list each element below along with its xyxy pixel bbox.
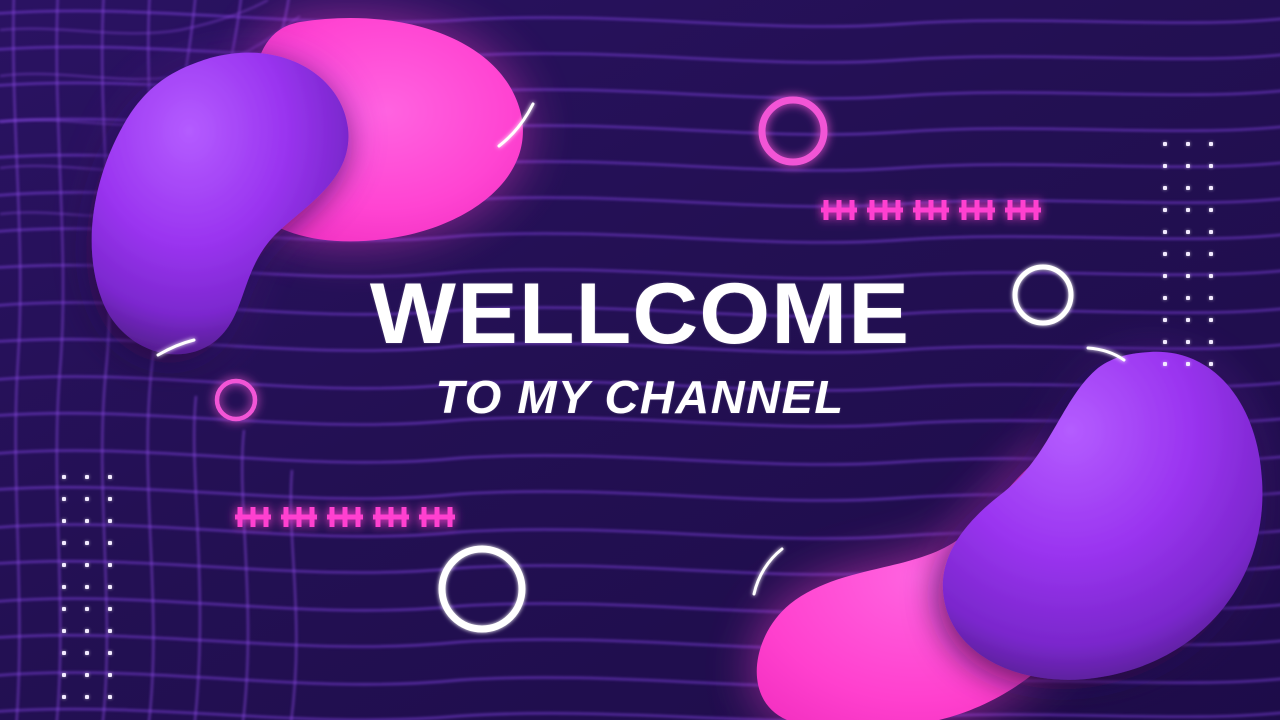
grid-dot	[1163, 186, 1167, 190]
grid-dot	[1209, 340, 1213, 344]
grid-dot	[1186, 186, 1190, 190]
grid-dot	[62, 607, 66, 611]
grid-dot	[62, 651, 66, 655]
grid-dot	[1186, 274, 1190, 278]
grid-dot	[1209, 296, 1213, 300]
grid-dot	[85, 563, 89, 567]
grid-dot	[62, 541, 66, 545]
grid-dot	[85, 585, 89, 589]
grid-dot	[85, 475, 89, 479]
grid-dot	[1186, 142, 1190, 146]
arc-top-pink-blob	[499, 104, 533, 146]
grid-dot	[1186, 164, 1190, 168]
grid-dot	[62, 497, 66, 501]
grid-dot	[85, 541, 89, 545]
grid-dot	[62, 673, 66, 677]
grid-dot	[1186, 252, 1190, 256]
grid-dot	[1209, 142, 1213, 146]
grid-dot	[62, 475, 66, 479]
grid-dot	[62, 695, 66, 699]
dot-grid-right	[1163, 142, 1232, 384]
grid-dot	[108, 519, 112, 523]
circle-white-bottom	[442, 549, 522, 629]
circle-pink-top-right	[762, 100, 824, 162]
grid-dot	[108, 541, 112, 545]
grid-dot	[85, 651, 89, 655]
grid-dot	[108, 651, 112, 655]
grid-dot	[108, 563, 112, 567]
grid-dot	[1163, 318, 1167, 322]
grid-dot	[108, 497, 112, 501]
grid-dot	[108, 475, 112, 479]
grid-dot	[1186, 340, 1190, 344]
grid-dot	[1163, 208, 1167, 212]
grid-dot	[108, 695, 112, 699]
grid-dot	[1163, 274, 1167, 278]
grid-dot	[1209, 252, 1213, 256]
grid-dot	[108, 607, 112, 611]
grid-dot	[1163, 296, 1167, 300]
grid-dot	[108, 585, 112, 589]
grid-dot	[1209, 208, 1213, 212]
decoration-layer	[0, 0, 1280, 720]
grid-dot	[1163, 164, 1167, 168]
arc-right-purple-blob	[1088, 348, 1124, 360]
grid-dot	[62, 563, 66, 567]
grid-dot	[1163, 142, 1167, 146]
dot-grid-left	[62, 475, 131, 717]
grid-dot	[85, 629, 89, 633]
grid-dot	[1163, 252, 1167, 256]
grid-dot	[1163, 230, 1167, 234]
grid-dot	[1186, 230, 1190, 234]
grid-dot	[1209, 230, 1213, 234]
grid-dot	[1209, 186, 1213, 190]
grid-dot	[85, 607, 89, 611]
circle-white-right	[1015, 267, 1071, 323]
grid-dot	[108, 629, 112, 633]
grid-dot	[108, 673, 112, 677]
grid-dot	[1209, 274, 1213, 278]
grid-dot	[85, 519, 89, 523]
grid-dot	[1209, 164, 1213, 168]
grid-dot	[1186, 208, 1190, 212]
grid-dot	[1186, 318, 1190, 322]
grid-dot	[85, 497, 89, 501]
tally-marks-bottom-left	[235, 507, 455, 527]
grid-dot	[1163, 340, 1167, 344]
grid-dot	[1209, 362, 1213, 366]
tally-marks-top-right	[821, 200, 1041, 220]
arc-left-purple-blob	[158, 340, 194, 355]
grid-dot	[62, 519, 66, 523]
grid-dot	[1163, 362, 1167, 366]
circle-pink-left	[217, 381, 255, 419]
banner-canvas: WELLCOME TO MY CHANNEL	[0, 0, 1280, 720]
grid-dot	[62, 585, 66, 589]
arc-bottom-pink-blob	[754, 549, 782, 594]
grid-dot	[85, 695, 89, 699]
grid-dot	[1209, 318, 1213, 322]
grid-dot	[1186, 296, 1190, 300]
grid-dot	[1186, 362, 1190, 366]
grid-dot	[85, 673, 89, 677]
grid-dot	[62, 629, 66, 633]
